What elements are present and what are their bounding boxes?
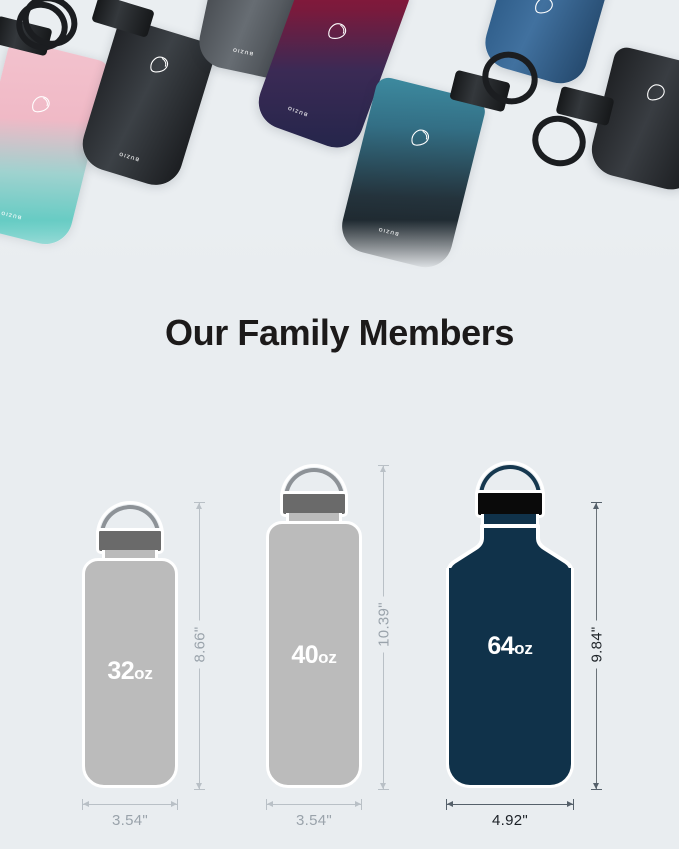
width-value: 3.54" xyxy=(50,812,210,829)
photo-fade-overlay xyxy=(0,220,679,290)
width-dimension-line xyxy=(446,804,574,805)
capacity-label: 64oz xyxy=(449,632,571,661)
dim-arrow-right-icon xyxy=(567,801,573,807)
capacity-number: 40 xyxy=(291,641,318,669)
bottle-spec-64oz: 64oz 9.84" 4.92" xyxy=(430,440,640,840)
size-comparison-diagram: 32oz 8.66" 3.54" 40oz xyxy=(0,440,679,840)
page-title: Our Family Members xyxy=(0,312,679,354)
dim-arrow-left-icon xyxy=(447,801,453,807)
capacity-label: 40oz xyxy=(269,641,359,670)
capacity-number: 64 xyxy=(487,632,514,660)
height-value: 8.66" xyxy=(188,621,213,669)
dim-cap-bottom xyxy=(194,789,205,790)
dim-arrow-down-icon xyxy=(196,783,202,789)
capacity-number: 32 xyxy=(107,657,134,685)
bottle-body: 64oz xyxy=(446,568,574,788)
bottle-body: 40oz xyxy=(266,521,362,788)
capacity-unit: oz xyxy=(134,664,152,683)
bottle-spec-40oz: 40oz 10.39" 3.54" xyxy=(262,440,442,840)
dim-arrow-right-icon xyxy=(355,801,361,807)
dim-arrow-up-icon xyxy=(593,503,599,509)
dim-arrow-down-icon xyxy=(380,783,386,789)
hero-bottle-black-1: BUZIO xyxy=(76,16,218,191)
width-value: 4.92" xyxy=(430,812,590,829)
dim-arrow-down-icon xyxy=(593,783,599,789)
dim-tick-right xyxy=(573,799,574,810)
dim-cap-bottom xyxy=(378,789,389,790)
dim-arrow-up-icon xyxy=(196,503,202,509)
bottle-spec-32oz: 32oz 8.66" 3.54" xyxy=(78,440,258,840)
dim-arrow-left-icon xyxy=(267,801,273,807)
dim-cap-bottom xyxy=(591,789,602,790)
capacity-label: 32oz xyxy=(85,657,175,686)
bottle-body: 32oz xyxy=(82,558,178,788)
dim-arrow-up-icon xyxy=(380,466,386,472)
capacity-unit: oz xyxy=(514,639,532,658)
dim-arrow-left-icon xyxy=(83,801,89,807)
hero-product-photo: BUZIO BUZIO BUZIO BUZIO xyxy=(0,0,679,290)
width-dimension-line xyxy=(266,804,362,805)
height-value: 10.39" xyxy=(372,597,397,653)
dim-arrow-right-icon xyxy=(171,801,177,807)
height-value: 9.84" xyxy=(585,621,610,669)
dim-tick-right xyxy=(177,799,178,810)
capacity-unit: oz xyxy=(318,648,336,667)
dim-tick-right xyxy=(361,799,362,810)
width-dimension-line xyxy=(82,804,178,805)
bottle-body xyxy=(76,16,218,191)
width-value: 3.54" xyxy=(234,812,394,829)
